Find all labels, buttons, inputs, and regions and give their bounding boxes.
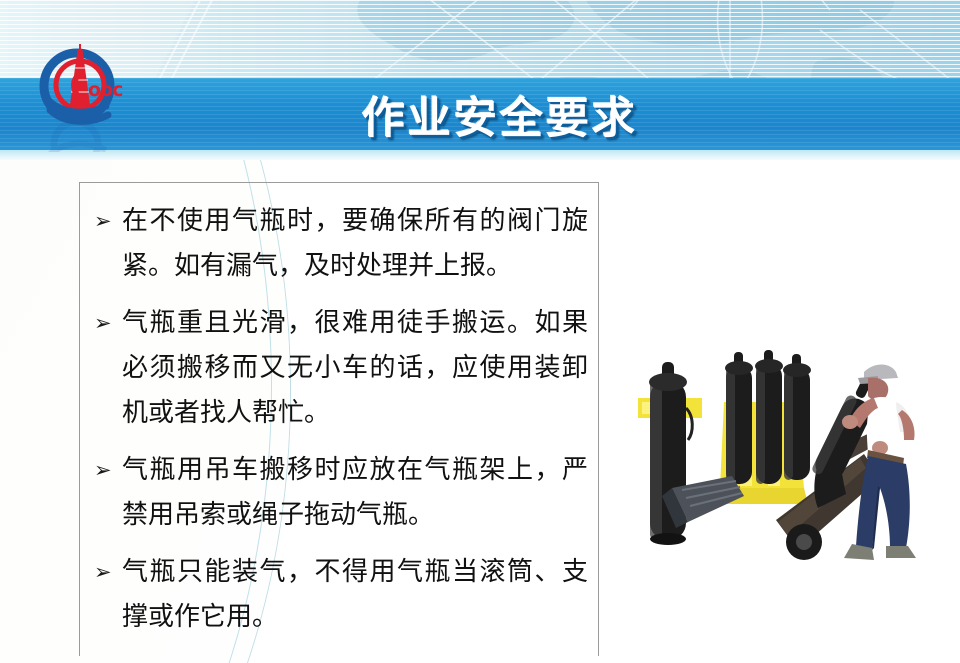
page-title-text: 作业安全要求 — [362, 84, 638, 146]
cnooc-logo-reflection — [40, 118, 136, 152]
header-bottom-fade — [0, 150, 960, 160]
gas-cylinder-handling-photo — [628, 336, 950, 590]
cylinder-group — [725, 350, 811, 484]
svg-text:ooc: ooc — [88, 79, 122, 101]
page-title: 作业安全要求 — [0, 82, 960, 148]
bullet-arrow-icon: ➢ — [94, 301, 122, 346]
slide-root: 作业安全要求 ooc — [0, 0, 960, 663]
list-item-text: 气瓶只能装气，不得用气瓶当滚筒、支撑或作它用。 — [122, 550, 588, 640]
list-item: ➢ 在不使用气瓶时，要确保所有的阀门旋紧。如有漏气，及时处理并上报。 — [94, 199, 588, 289]
bullet-arrow-icon: ➢ — [94, 448, 122, 493]
safety-requirements-list: ➢ 在不使用气瓶时，要确保所有的阀门旋紧。如有漏气，及时处理并上报。 ➢ 气瓶重… — [94, 199, 588, 640]
content-text-box: ➢ 在不使用气瓶时，要确保所有的阀门旋紧。如有漏气，及时处理并上报。 ➢ 气瓶重… — [79, 182, 599, 656]
bullet-arrow-icon: ➢ — [94, 550, 122, 595]
bullet-arrow-icon: ➢ — [94, 199, 122, 244]
list-item-text: 气瓶重且光滑，很难用徒手搬运。如果必须搬移而又无小车的话，应使用装卸机或者找人帮… — [122, 301, 588, 436]
list-item-text: 在不使用气瓶时，要确保所有的阀门旋紧。如有漏气，及时处理并上报。 — [122, 199, 588, 289]
list-item: ➢ 气瓶只能装气，不得用气瓶当滚筒、支撑或作它用。 — [94, 550, 588, 640]
list-item: ➢ 气瓶用吊车搬移时应放在气瓶架上，严禁用吊索或绳子拖动气瓶。 — [94, 448, 588, 538]
list-item-text: 气瓶用吊车搬移时应放在气瓶架上，严禁用吊索或绳子拖动气瓶。 — [122, 448, 588, 538]
slide-header: 作业安全要求 ooc — [0, 0, 960, 160]
list-item: ➢ 气瓶重且光滑，很难用徒手搬运。如果必须搬移而又无小车的话，应使用装卸机或者找… — [94, 301, 588, 436]
